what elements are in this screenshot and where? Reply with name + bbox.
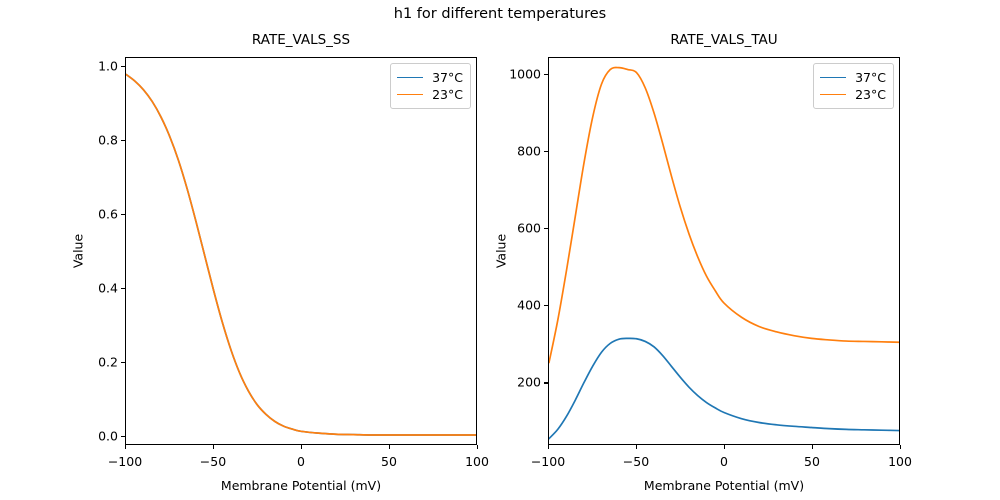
- series-line-23C: [549, 67, 899, 362]
- ytick-mark: [544, 382, 548, 383]
- subplot-left-xlabel: Membrane Potential (mV): [125, 478, 477, 493]
- legend-label: 23°C: [432, 87, 463, 102]
- ytick-label: 0.8: [98, 133, 118, 148]
- ytick-mark: [121, 436, 125, 437]
- xtick-label: 50: [804, 454, 820, 469]
- ytick-mark: [121, 66, 125, 67]
- ytick-mark: [121, 288, 125, 289]
- figure-suptitle: h1 for different temperatures: [0, 6, 1000, 22]
- xtick-mark: [812, 445, 813, 449]
- ytick-label: 1.0: [98, 59, 118, 74]
- legend-label: 23°C: [855, 87, 886, 102]
- xtick-label: 50: [381, 454, 397, 469]
- xtick-label: 0: [720, 454, 728, 469]
- ytick-mark: [544, 151, 548, 152]
- legend-color-swatch: [820, 94, 846, 95]
- xtick-mark: [636, 445, 637, 449]
- xtick-label: 0: [297, 454, 305, 469]
- xtick-mark: [389, 445, 390, 449]
- series-line-37C: [549, 338, 899, 438]
- xtick-label: 100: [888, 454, 912, 469]
- xtick-mark: [900, 445, 901, 449]
- subplot-right-ylabel: Value: [494, 234, 509, 268]
- ytick-label: 800: [517, 143, 541, 158]
- ytick-label: 0.2: [98, 354, 118, 369]
- legend-label: 37°C: [432, 70, 463, 85]
- xtick-mark: [213, 445, 214, 449]
- xtick-mark: [477, 445, 478, 449]
- ytick-label: 600: [517, 221, 541, 236]
- xtick-label: −100: [108, 454, 142, 469]
- subplot-left-axes-frame: [125, 57, 477, 445]
- ytick-mark: [544, 305, 548, 306]
- subplot-right-plot-area: [549, 58, 899, 444]
- ytick-label: 0.0: [98, 428, 118, 443]
- subplot-right-xlabel: Membrane Potential (mV): [548, 478, 900, 493]
- legend-color-swatch: [397, 77, 423, 78]
- subplot-right-title: RATE_VALS_TAU: [548, 32, 900, 48]
- legend-entry[interactable]: 23°C: [397, 86, 463, 103]
- series-line-37C: [126, 74, 476, 435]
- ytick-mark: [121, 362, 125, 363]
- xtick-mark: [724, 445, 725, 449]
- subplot-left-plot-area: [126, 58, 476, 444]
- subplot-rate-vals-ss: RATE_VALS_SS −100−50050100 0.00.20.40.60…: [125, 57, 477, 445]
- legend-color-swatch: [820, 77, 846, 78]
- xtick-label: 100: [465, 454, 489, 469]
- subplot-left-ylabel: Value: [71, 234, 86, 268]
- legend-label: 37°C: [855, 70, 886, 85]
- ytick-label: 0.6: [98, 207, 118, 222]
- legend-color-swatch: [397, 94, 423, 95]
- ytick-mark: [544, 228, 548, 229]
- subplot-left-legend[interactable]: 37°C23°C: [390, 63, 471, 109]
- xtick-mark: [301, 445, 302, 449]
- subplot-rate-vals-tau: RATE_VALS_TAU −100−50050100 200400600800…: [548, 57, 900, 445]
- subplot-right-axes-frame: [548, 57, 900, 445]
- subplot-left-title: RATE_VALS_SS: [125, 32, 477, 48]
- legend-entry[interactable]: 37°C: [397, 69, 463, 86]
- subplot-right-legend[interactable]: 37°C23°C: [813, 63, 894, 109]
- ytick-label: 200: [517, 375, 541, 390]
- ytick-label: 1000: [509, 66, 541, 81]
- ytick-label: 400: [517, 298, 541, 313]
- series-line-23C: [126, 74, 476, 435]
- xtick-label: −100: [531, 454, 565, 469]
- legend-entry[interactable]: 37°C: [820, 69, 886, 86]
- xtick-mark: [125, 445, 126, 449]
- legend-entry[interactable]: 23°C: [820, 86, 886, 103]
- ytick-mark: [121, 214, 125, 215]
- xtick-mark: [548, 445, 549, 449]
- ytick-mark: [544, 74, 548, 75]
- matplotlib-figure: h1 for different temperatures RATE_VALS_…: [0, 0, 1000, 500]
- xtick-label: −50: [200, 454, 226, 469]
- ytick-label: 0.4: [98, 280, 118, 295]
- xtick-label: −50: [623, 454, 649, 469]
- ytick-mark: [121, 140, 125, 141]
